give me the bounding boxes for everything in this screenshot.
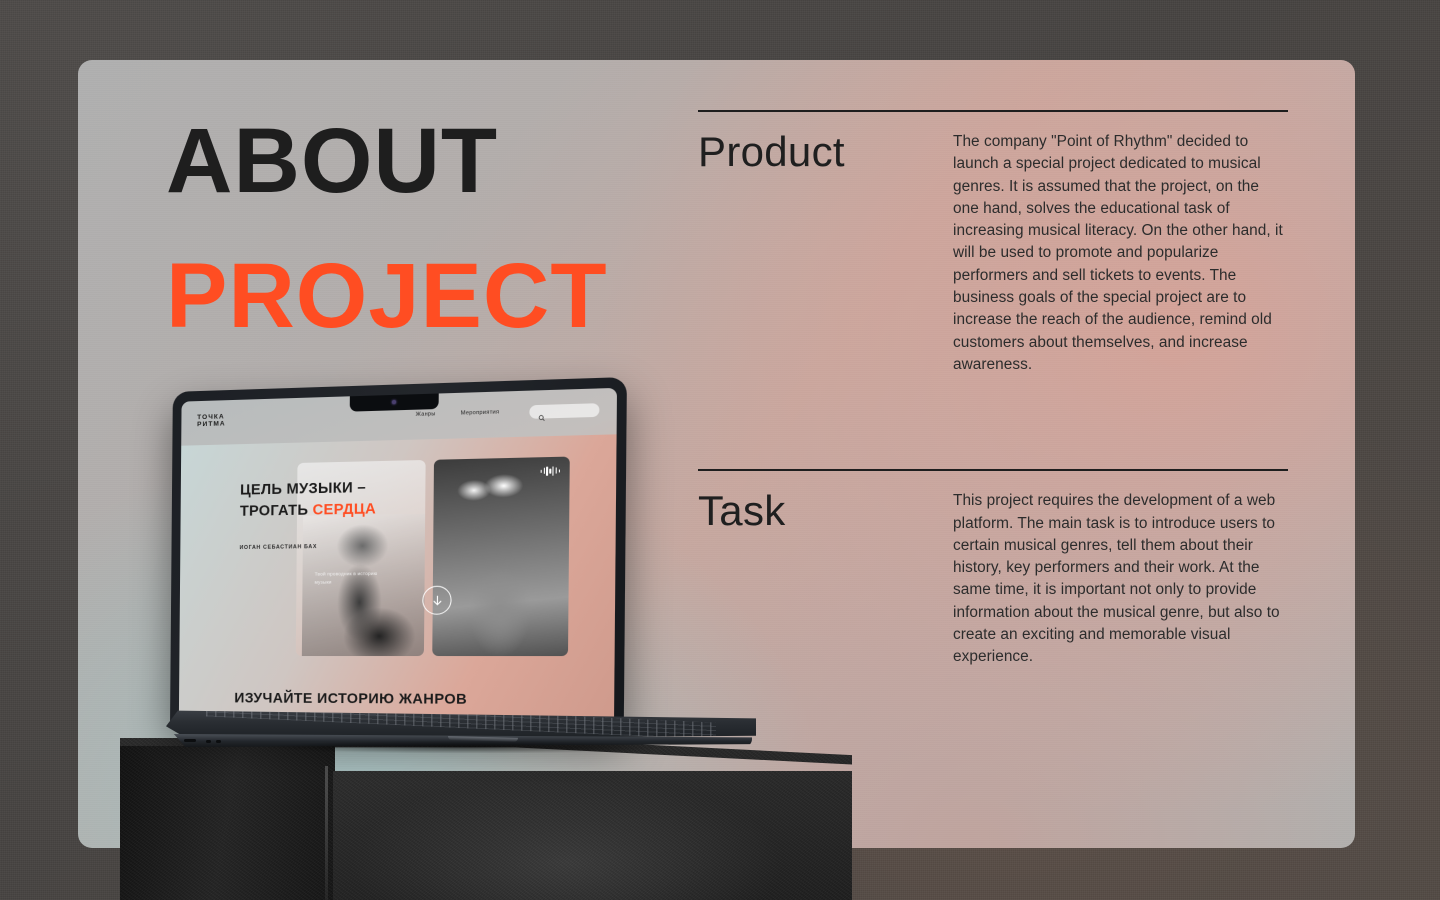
pedestal-front-face: [333, 771, 852, 900]
hero-card-caption: Твой проводник в историю музыки: [315, 570, 389, 587]
headline-line-project: PROJECT: [166, 247, 608, 346]
section-divider: [698, 469, 1288, 471]
laptop-mockup: ТОЧКА РИТМА Жанры Мероприятия: [158, 392, 758, 754]
pedestal-texture: [120, 746, 335, 900]
pedestal-texture: [333, 771, 852, 900]
content-sections: Product The company "Point of Rhythm" de…: [698, 110, 1288, 669]
audio-waveform-icon: [541, 466, 560, 475]
arrow-down-icon: [430, 593, 444, 607]
hero-title-line2: ТРОГАТЬ СЕРДЦА: [240, 499, 376, 522]
hero-title-line1: ЦЕЛЬ МУЗЫКИ –: [240, 478, 376, 502]
page-title: ABOUT PROJECT: [166, 112, 608, 347]
hero-quote-author: ИОГАН СЕБАСТИАН БАХ: [240, 544, 318, 551]
site-hero: ЦЕЛЬ МУЗЫКИ – ТРОГАТЬ СЕРДЦА ИОГАН СЕБАС…: [179, 434, 617, 720]
section-heading-product: Product: [698, 131, 953, 376]
section-text-product: The company "Point of Rhythm" decided to…: [953, 131, 1288, 376]
concrete-pedestal: [120, 738, 852, 900]
section-body: Task This project requires the developme…: [698, 490, 1288, 668]
camera-icon: [391, 400, 395, 404]
hero-subtitle: ИЗУЧАЙТЕ ИСТОРИЮ ЖАНРОВ: [234, 689, 467, 707]
section-product: Product The company "Point of Rhythm" de…: [698, 110, 1288, 376]
search-icon: [538, 407, 546, 415]
site-logo[interactable]: ТОЧКА РИТМА: [197, 413, 235, 428]
section-divider: [698, 110, 1288, 112]
search-input[interactable]: [529, 403, 599, 419]
hero-title-accent: СЕРДЦА: [313, 501, 377, 518]
laptop-notch: [349, 394, 438, 412]
pedestal-left-face: [120, 746, 335, 900]
headline-line-about: ABOUT: [166, 112, 608, 211]
website-preview: ТОЧКА РИТМА Жанры Мероприятия: [179, 388, 617, 721]
hero-title-line2-text: ТРОГАТЬ: [240, 502, 313, 520]
hero-title: ЦЕЛЬ МУЗЫКИ – ТРОГАТЬ СЕРДЦА: [240, 478, 376, 522]
hero-card-concert-photo[interactable]: [432, 457, 570, 657]
section-text-task: This project requires the development of…: [953, 490, 1288, 668]
laptop-lid: ТОЧКА РИТМА Жанры Мероприятия: [170, 377, 627, 730]
laptop-screen: ТОЧКА РИТМА Жанры Мероприятия: [179, 388, 617, 721]
site-nav-links: Жанры Мероприятия: [416, 409, 500, 418]
nav-link-events[interactable]: Мероприятия: [461, 409, 500, 416]
section-body: Product The company "Point of Rhythm" de…: [698, 131, 1288, 376]
nav-link-genres[interactable]: Жанры: [416, 411, 436, 418]
section-task: Task This project requires the developme…: [698, 469, 1288, 668]
laptop-shadow: [188, 738, 748, 756]
slide-backdrop: ABOUT PROJECT Product The company "Point…: [0, 0, 1440, 900]
pedestal-corner-highlight: [325, 766, 328, 900]
